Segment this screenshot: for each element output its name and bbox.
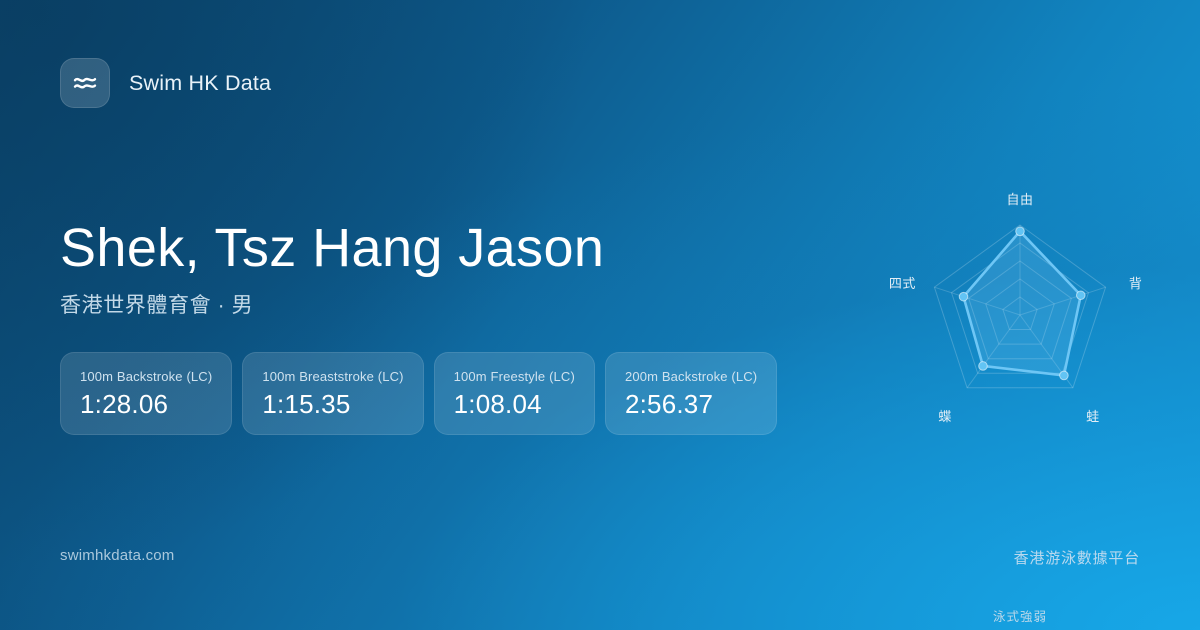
radar-label-back: 背 [1129, 273, 1143, 292]
stat-card-value: 1:15.35 [262, 391, 403, 417]
stat-card-label: 200m Backstroke (LC) [625, 369, 757, 384]
radar-label-im: 四式 [889, 273, 916, 292]
radar-label-breast: 蛙 [1086, 406, 1100, 425]
stat-card[interactable]: 100m Backstroke (LC) 1:28.06 [60, 352, 232, 435]
stat-card-list: 100m Backstroke (LC) 1:28.06 100m Breast… [60, 352, 777, 435]
brand-name: Swim HK Data [129, 71, 271, 96]
radar-caption: 泳式強弱 [860, 606, 1180, 625]
stat-card-label: 100m Breaststroke (LC) [262, 369, 403, 384]
stat-card-value: 1:28.06 [80, 391, 212, 417]
stat-card[interactable]: 200m Backstroke (LC) 2:56.37 [605, 352, 777, 435]
wave-approx-icon [60, 58, 110, 108]
footer-site-url: swimhkdata.com [60, 547, 175, 564]
radar-label-free: 自由 [1006, 189, 1033, 208]
stat-card-value: 2:56.37 [625, 391, 757, 417]
radar-label-fly: 蝶 [938, 406, 952, 425]
stat-card[interactable]: 100m Freestyle (LC) 1:08.04 [434, 352, 595, 435]
brand-header: Swim HK Data [60, 58, 271, 108]
stat-card-label: 100m Backstroke (LC) [80, 369, 212, 384]
radar-chart: 自由 背 蛙 蝶 四式 泳式強弱 [860, 165, 1180, 475]
radar-chart-svg [860, 165, 1180, 475]
athlete-meta: 香港世界體育會 · 男 [60, 289, 604, 319]
footer-tagline: 香港游泳數據平台 [1014, 547, 1140, 568]
page-title: Shek, Tsz Hang Jason [60, 218, 604, 278]
stat-card[interactable]: 100m Breaststroke (LC) 1:15.35 [242, 352, 423, 435]
stat-card-value: 1:08.04 [454, 391, 575, 417]
stat-card-label: 100m Freestyle (LC) [454, 369, 575, 384]
hero-block: Shek, Tsz Hang Jason 香港世界體育會 · 男 [60, 218, 604, 319]
